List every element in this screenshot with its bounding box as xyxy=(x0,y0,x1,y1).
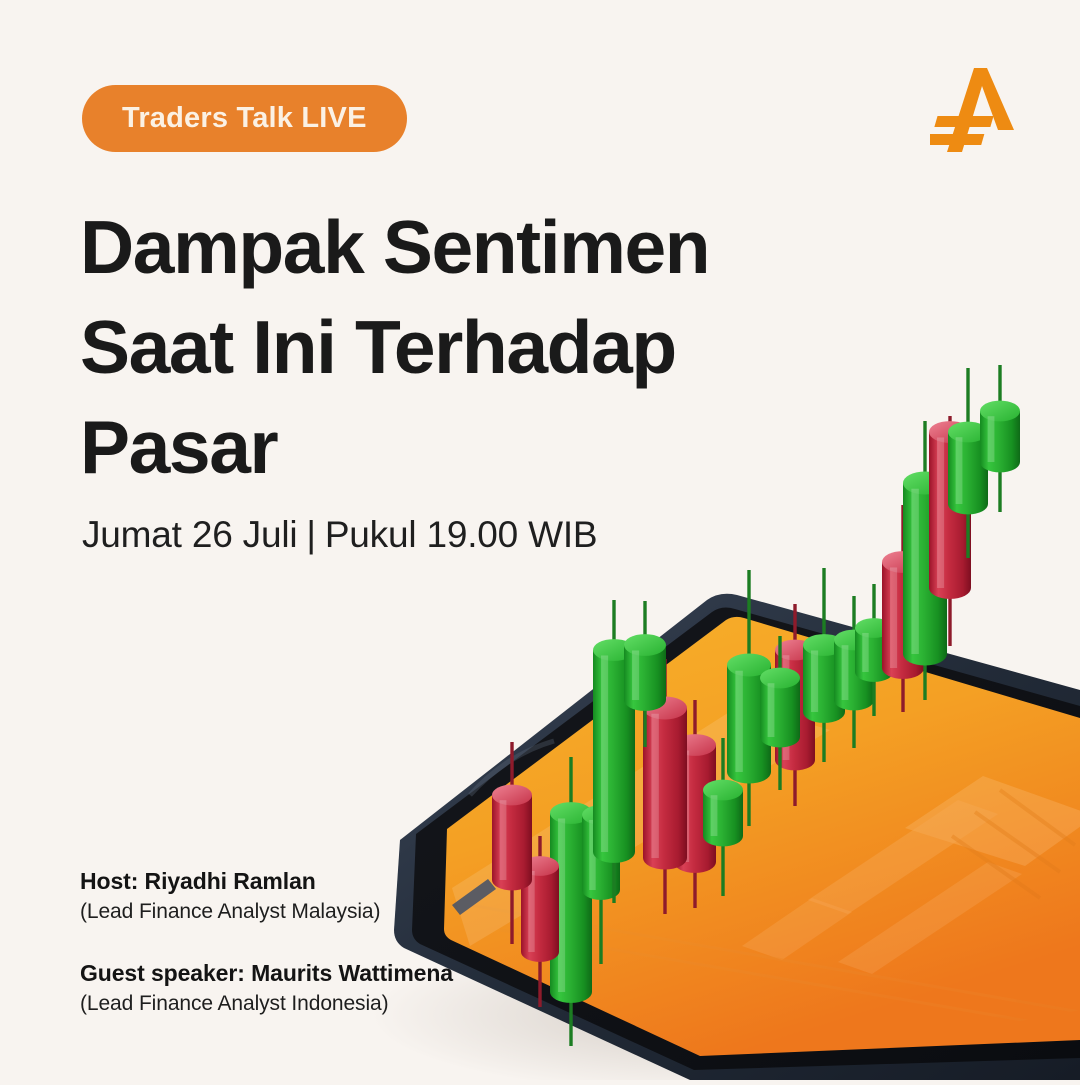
candle-bear xyxy=(643,659,687,914)
candle-bull xyxy=(855,584,893,716)
schedule-date: Jumat 26 Juli xyxy=(82,514,297,555)
candle-bear xyxy=(521,836,559,1007)
credits-block: Host: Riyadhi Ramlan (Lead Finance Analy… xyxy=(80,868,453,1016)
phone-device xyxy=(394,594,1080,1080)
candle-bull xyxy=(948,368,988,558)
candle-bull xyxy=(980,365,1020,512)
candle-bull xyxy=(593,600,635,903)
schedule-separator: | xyxy=(306,514,315,555)
brand-a-currency-logo-icon xyxy=(930,62,1030,158)
candle-bear xyxy=(929,416,971,646)
headline-line-3: Pasar xyxy=(80,398,800,498)
guest-name: Guest speaker: Maurits Wattimena xyxy=(80,960,453,987)
candle-bear xyxy=(674,700,716,908)
candle-bull xyxy=(903,421,947,700)
candle-bull xyxy=(582,765,620,964)
credits-spacer xyxy=(80,924,453,960)
page-title: Dampak Sentimen Saat Ini Terhadap Pasar xyxy=(80,198,800,497)
candle-bull xyxy=(727,570,771,826)
candle-bear xyxy=(775,604,815,806)
candle-bull xyxy=(703,738,743,896)
host-name: Host: Riyadhi Ramlan xyxy=(80,868,453,895)
candle-bear xyxy=(882,505,924,712)
host-role: (Lead Finance Analyst Malaysia) xyxy=(80,900,453,924)
candle-bull xyxy=(803,568,845,762)
schedule-line: Jumat 26 Juli|Pukul 19.00 WIB xyxy=(82,514,597,556)
live-badge: Traders Talk LIVE xyxy=(82,85,407,152)
headline-line-1: Dampak Sentimen xyxy=(80,198,800,298)
headline-line-2: Saat Ini Terhadap xyxy=(80,298,800,398)
candle-bull xyxy=(624,601,666,747)
candle-bull xyxy=(834,596,874,748)
schedule-time: Pukul 19.00 WIB xyxy=(325,514,598,555)
candle-bull xyxy=(550,757,592,1046)
volume-button-icon xyxy=(452,879,496,915)
candle-bull xyxy=(760,636,800,790)
guest-role: (Lead Finance Analyst Indonesia) xyxy=(80,992,453,1016)
live-badge-label: Traders Talk LIVE xyxy=(122,102,367,135)
candle-bear xyxy=(492,742,532,944)
